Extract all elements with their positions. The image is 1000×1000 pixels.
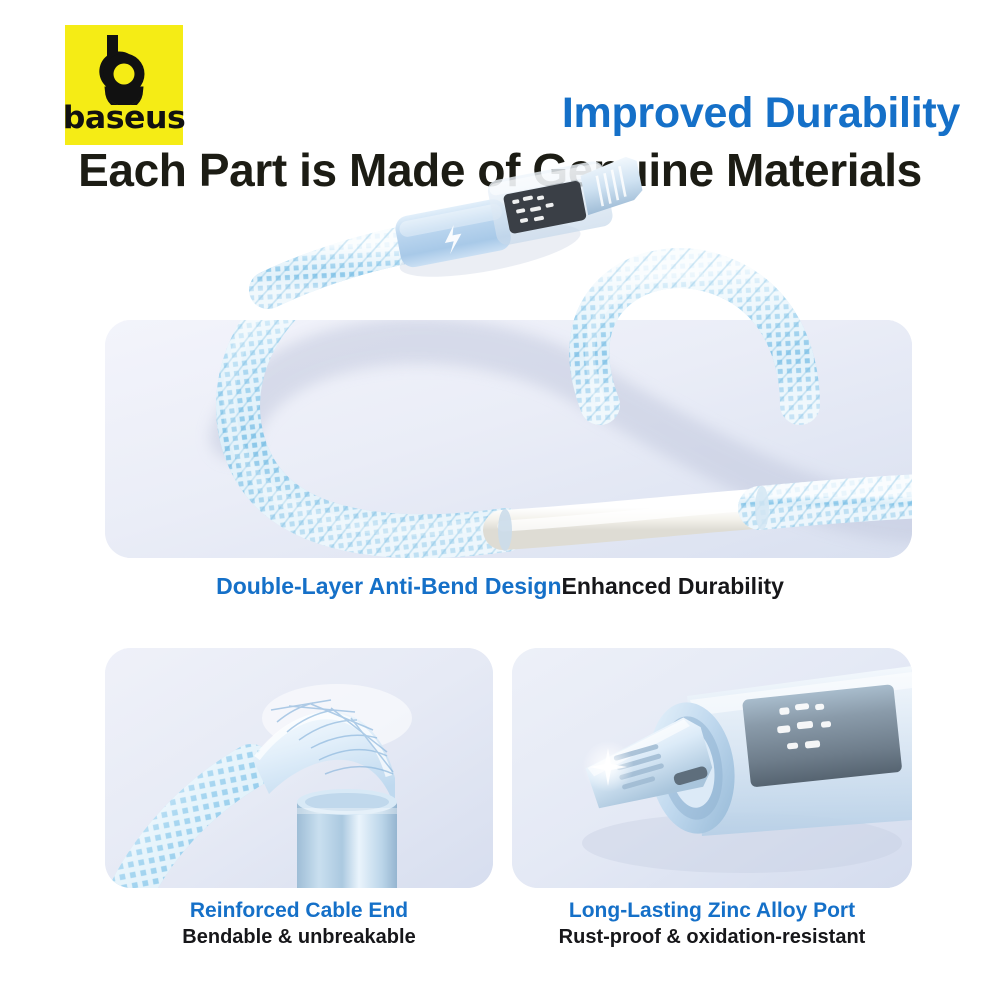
lightning-bolt-icon <box>442 224 465 255</box>
caption-title: Long-Lasting Zinc Alloy Port <box>512 898 912 924</box>
caption-subtitle: Rust-proof & oxidation-resistant <box>512 924 912 950</box>
caption-double-layer-anti-bend: Double-Layer Anti-Bend DesignEnhanced Du… <box>0 575 1000 598</box>
caption-subtitle: Bendable & unbreakable <box>105 924 493 950</box>
product-feature-page: baseus Improved Durability Each Part is … <box>0 0 1000 1000</box>
page-title-black: Each Part is Made of Genuine Materials <box>0 147 1000 193</box>
brand-wordmark: baseus <box>63 103 186 134</box>
caption-blue-text: Double-Layer Anti-Bend Design <box>216 573 561 599</box>
brand-logo: baseus <box>65 25 183 145</box>
feature-panel-zinc-alloy-port <box>512 648 912 888</box>
caption-title: Reinforced Cable End <box>105 898 493 924</box>
braided-cable-illustration <box>105 320 912 558</box>
baseus-b-logo-icon <box>93 33 155 105</box>
feature-panel-double-layer-anti-bend <box>105 320 912 558</box>
feature-panel-reinforced-cable-end <box>105 648 493 888</box>
page-title-blue: Improved Durability <box>300 92 960 135</box>
caption-black-text: Enhanced Durability <box>562 573 784 599</box>
reinforced-cable-end-illustration <box>105 648 493 888</box>
caption-reinforced-cable-end: Reinforced Cable End Bendable & unbreaka… <box>105 898 493 950</box>
zinc-alloy-port-illustration <box>512 648 912 888</box>
caption-zinc-alloy-port: Long-Lasting Zinc Alloy Port Rust-proof … <box>512 898 912 950</box>
